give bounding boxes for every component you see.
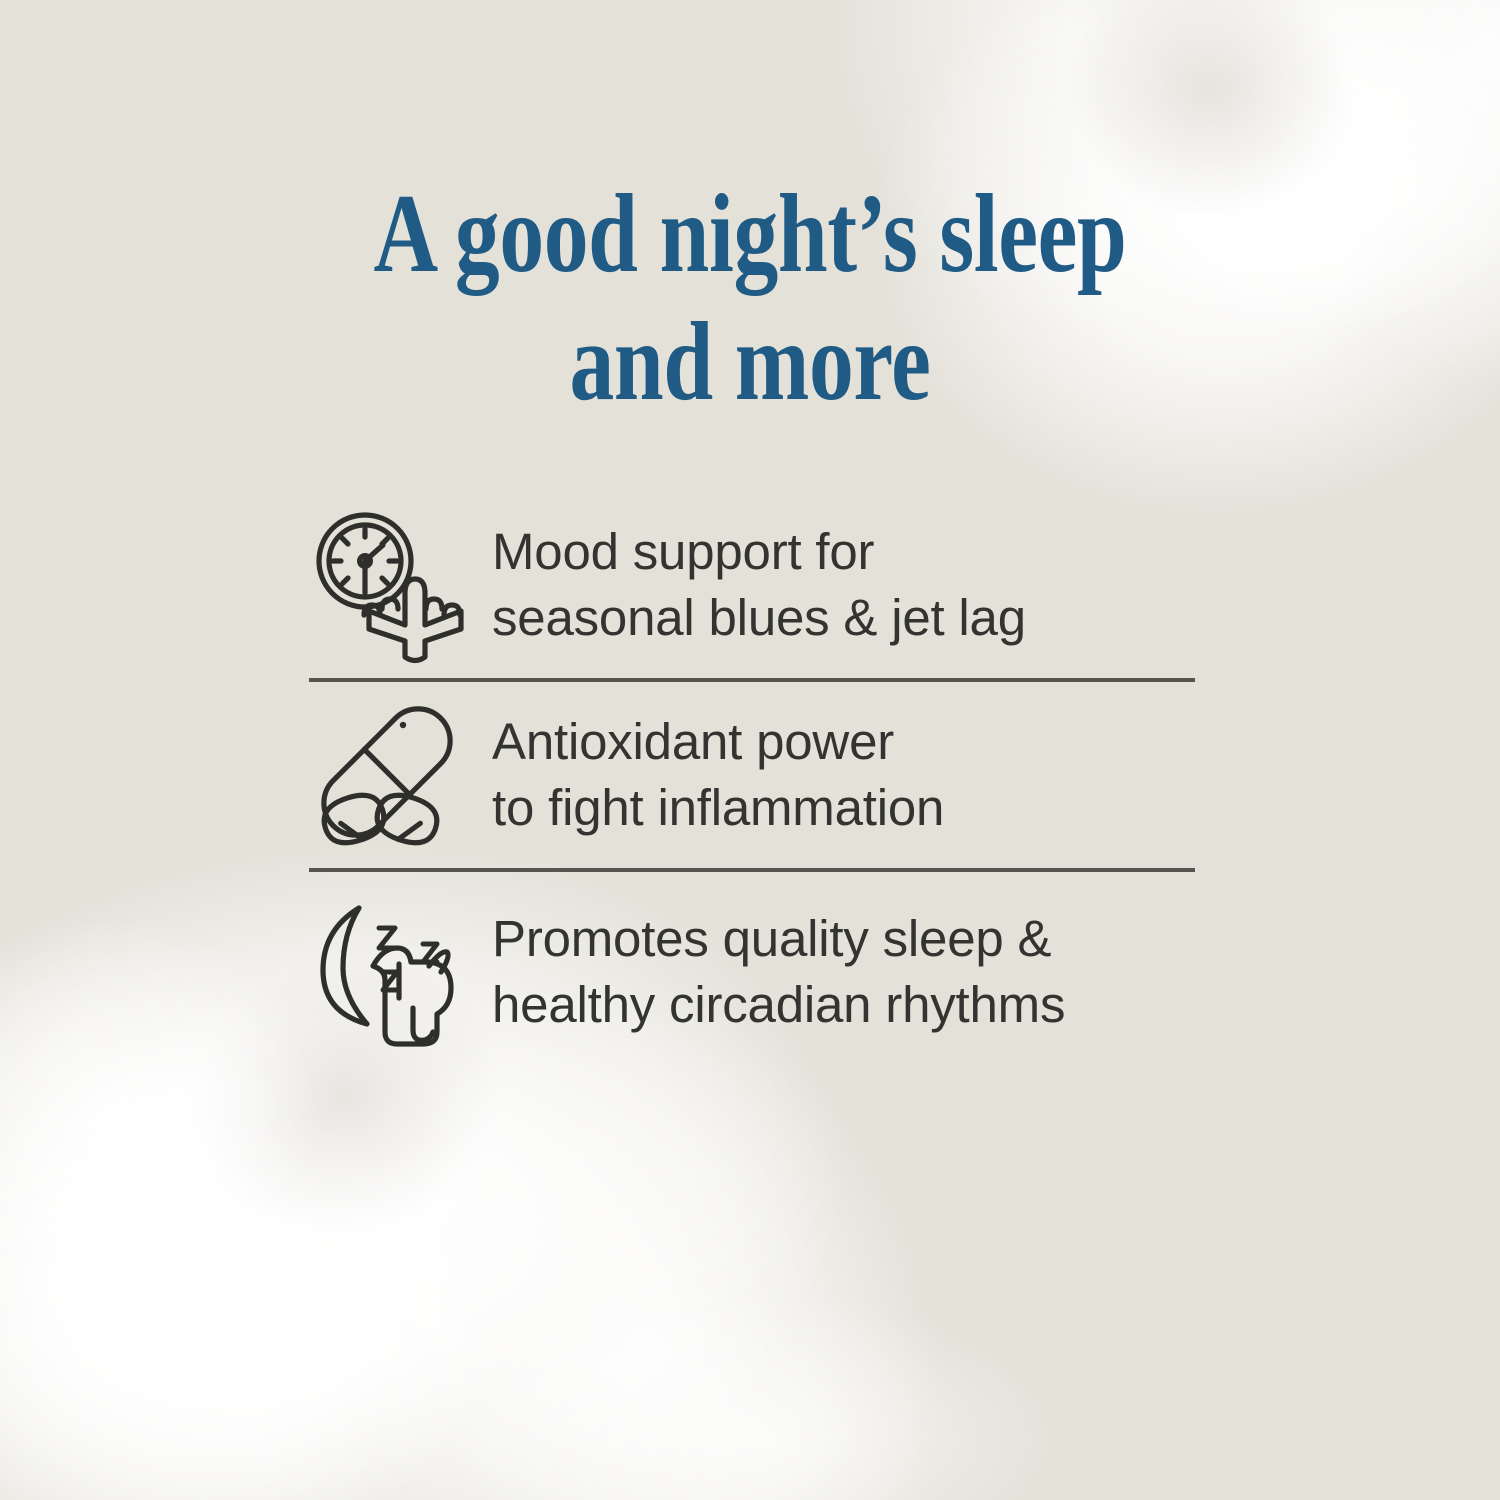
benefits-list: Mood support for seasonal blues & jet la…	[309, 492, 1195, 1072]
benefit-line-2: healthy circadian rhythms	[492, 972, 1065, 1038]
cloud-left-edge	[0, 880, 360, 1400]
benefit-item-antioxidant: Antioxidant power to fight inflammation	[309, 682, 1195, 868]
benefit-line-1: Antioxidant power	[492, 709, 944, 775]
benefit-line-2: seasonal blues & jet lag	[492, 585, 1026, 651]
benefit-item-mood-support: Mood support for seasonal blues & jet la…	[309, 492, 1195, 678]
benefit-line-1: Mood support for	[492, 519, 1026, 585]
benefit-line-1: Promotes quality sleep &	[492, 906, 1065, 972]
capsule-leaf-icon	[309, 700, 469, 850]
page-title: A good night’s sleep and more	[150, 171, 1350, 426]
cloud-bottom-left-inner	[0, 1000, 600, 1500]
benefit-item-quality-sleep: Promotes quality sleep & healthy circadi…	[309, 872, 1195, 1072]
benefit-line-2: to fight inflammation	[492, 775, 944, 841]
cloud-bottom-center	[380, 1260, 1280, 1500]
poster-canvas: A good night’s sleep and more	[0, 0, 1500, 1500]
page-title-line-2: and more	[150, 299, 1350, 427]
page-title-line-1: A good night’s sleep	[150, 171, 1350, 299]
moon-cat-zzz-icon	[309, 892, 469, 1052]
clock-airplane-icon	[309, 505, 469, 665]
benefit-text-quality-sleep: Promotes quality sleep & healthy circadi…	[469, 906, 1065, 1039]
benefit-text-antioxidant: Antioxidant power to fight inflammation	[469, 709, 944, 842]
benefit-text-mood-support: Mood support for seasonal blues & jet la…	[469, 519, 1026, 652]
